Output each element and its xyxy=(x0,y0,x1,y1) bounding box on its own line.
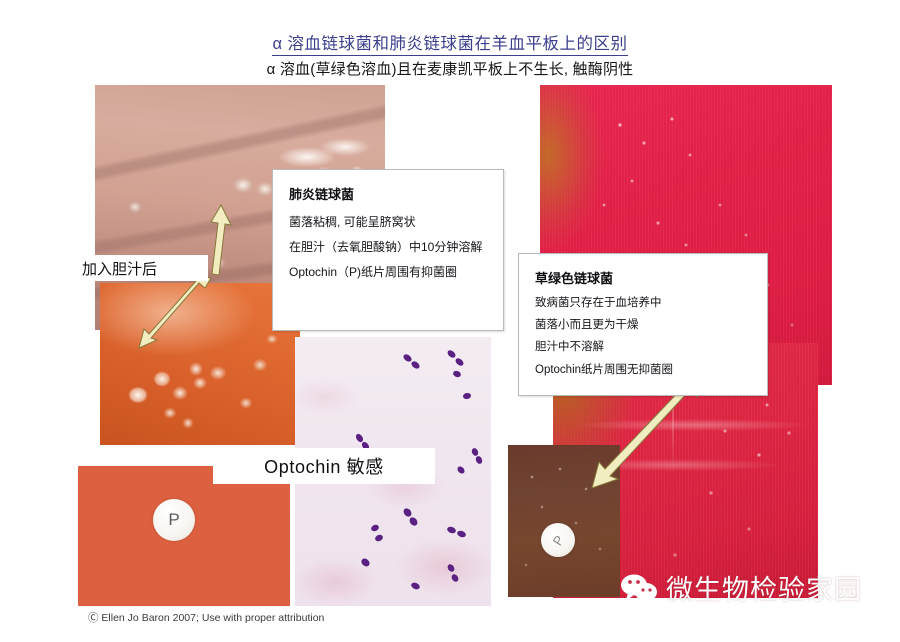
callout-viridans-line-4: Optochin纸片周围无抑菌圈 xyxy=(535,364,751,377)
callout-pneumoniae: 肺炎链球菌 菌落粘稠, 可能呈脐窝状 在胆汁（去氧胆酸钠）中10分钟溶解 Opt… xyxy=(272,169,504,331)
wechat-icon xyxy=(620,572,660,604)
optochin-p-disk-left: P xyxy=(153,499,195,541)
diplococcus xyxy=(370,524,380,533)
diplococcus xyxy=(374,534,384,543)
diplococcus xyxy=(408,516,419,527)
callout-viridans-line-3: 胆汁中不溶解 xyxy=(535,341,751,354)
disk-letter: P xyxy=(549,532,566,547)
label-optochin-sensitive: Optochin 敏感 xyxy=(213,448,435,484)
callout-viridans-line-2: 菌落小而且更为干燥 xyxy=(535,319,751,332)
diplococcus xyxy=(410,360,421,370)
label-bile-added: 加入胆汁后 xyxy=(78,255,208,281)
watermark: 微生物检验家园 xyxy=(620,568,862,607)
callout-viridans-line-1: 致病菌只存在于血培养中 xyxy=(535,297,751,310)
diplococcus xyxy=(463,392,472,399)
diplococcus xyxy=(446,526,457,535)
diplococcus xyxy=(446,563,456,573)
callout-pneumoniae-line-2: 在胆汁（去氧胆酸钠）中10分钟溶解 xyxy=(289,241,487,255)
title-subtitle: α 溶血(草绿色溶血)且在麦康凯平板上不生长, 触酶阴性 xyxy=(0,58,900,79)
diplococcus xyxy=(360,557,371,568)
diplococcus xyxy=(446,349,457,359)
diplococcus xyxy=(410,581,421,590)
diplococcus xyxy=(452,370,462,378)
callout-pneumoniae-line-3: Optochin（P)纸片周围有抑菌圈 xyxy=(289,266,487,280)
callout-pneumoniae-line-1: 菌落粘稠, 可能呈脐窝状 xyxy=(289,216,487,230)
watermark-text: 微生物检验家园 xyxy=(666,568,862,607)
copyright-notice: Ⓒ Ellen Jo Baron 2007; Use with proper a… xyxy=(88,610,324,625)
optochin-p-disk-right: P xyxy=(541,523,575,557)
callout-viridans-title: 草绿色链球菌 xyxy=(535,268,751,287)
callout-pneumoniae-title: 肺炎链球菌 xyxy=(289,184,487,203)
diplococcus xyxy=(456,530,467,539)
title-main-text: α 溶血链球菌和肺炎链球菌在羊血平板上的区别 xyxy=(272,30,627,56)
diplococcus xyxy=(454,357,465,367)
diplococcus xyxy=(475,455,484,465)
page-title: α 溶血链球菌和肺炎链球菌在羊血平板上的区别 xyxy=(0,30,900,56)
optochin-resistant-plate-photo: P xyxy=(508,445,620,597)
slide-canvas: α 溶血链球菌和肺炎链球菌在羊血平板上的区别 α 溶血(草绿色溶血)且在麦康凯平… xyxy=(0,0,900,642)
callout-viridans: 草绿色链球菌 致病菌只存在于血培养中 菌落小而且更为干燥 胆汁中不溶解 Opto… xyxy=(518,253,768,396)
bile-solubility-plate-photo xyxy=(100,283,300,445)
disk-letter: P xyxy=(168,510,179,530)
diplococcus xyxy=(450,573,460,583)
optochin-sensitive-plate-photo: P xyxy=(78,466,290,606)
diplococcus xyxy=(456,465,466,475)
